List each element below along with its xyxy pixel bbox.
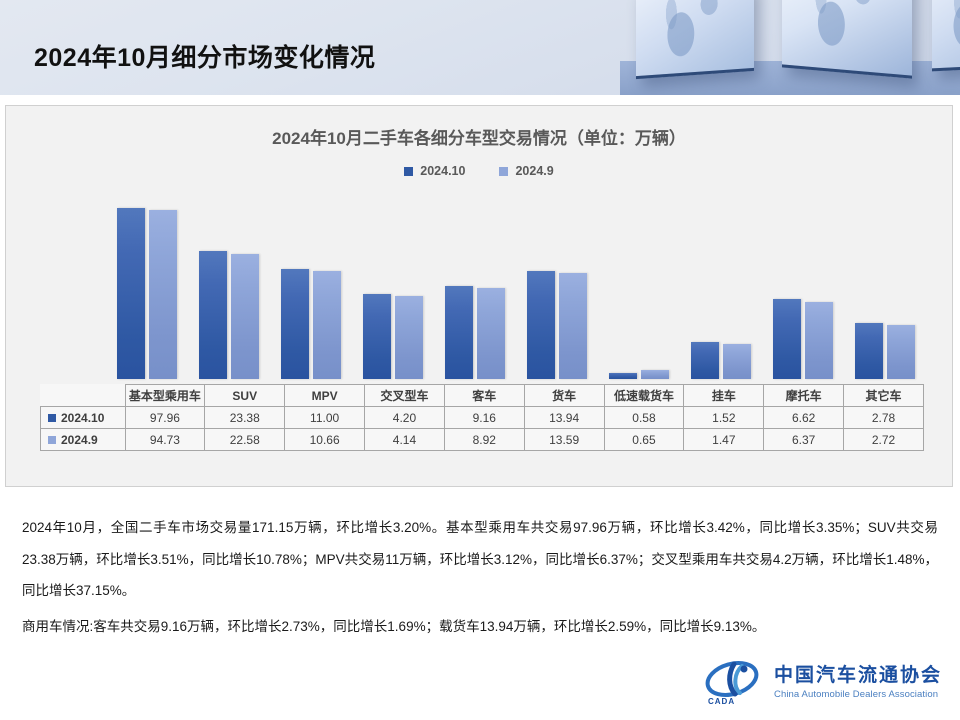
table-cell-value: 2.78 [844, 407, 924, 429]
body-text: 2024年10月，全国二手车市场交易量171.15万辆，环比增长3.20%。基本… [22, 512, 938, 647]
bar-2024-9 [313, 271, 341, 379]
decorative-cube-1 [636, 0, 754, 79]
table-cell-value: 0.65 [604, 429, 684, 451]
table-column-header: 基本型乘用车 [125, 385, 205, 407]
table-cell-value: 1.52 [684, 407, 764, 429]
bar-2024-10 [281, 269, 309, 379]
table-column-header: 其它车 [844, 385, 924, 407]
table-column-header: 客车 [444, 385, 524, 407]
table-cell-value: 23.38 [205, 407, 285, 429]
cada-abbreviation: CADA [708, 697, 735, 706]
cada-logo-mark-icon: CADA [704, 660, 766, 706]
cada-name-en: China Automobile Dealers Association [774, 690, 942, 700]
table-cell-value: 97.96 [125, 407, 205, 429]
table-cell-value: 11.00 [285, 407, 365, 429]
table-header-row: 基本型乘用车SUVMPV交叉型车客车货车低速载货车挂车摩托车其它车 [41, 385, 924, 407]
table-column-header: SUV [205, 385, 285, 407]
bar-group [352, 201, 434, 379]
page-title: 2024年10月细分市场变化情况 [34, 38, 375, 74]
bar-group [434, 201, 516, 379]
table-cell-value: 6.62 [764, 407, 844, 429]
bar-2024-9 [887, 325, 915, 379]
table-cell-value: 13.59 [524, 429, 604, 451]
bar-group [188, 201, 270, 379]
table-corner-cell [41, 385, 126, 407]
table-cell-value: 0.58 [604, 407, 684, 429]
table-cell-value: 4.20 [365, 407, 445, 429]
bar-group [516, 201, 598, 379]
table-column-header: 低速载货车 [604, 385, 684, 407]
bar-2024-10 [199, 251, 227, 379]
cada-name-cn: 中国汽车流通协会 [774, 666, 942, 687]
paragraph-commercial-vehicles: 商用车情况:客车共交易9.16万辆，环比增长2.73%，同比增长1.69%；载货… [22, 611, 938, 643]
series-swatch-icon [48, 414, 56, 422]
table-cell-value: 4.14 [365, 429, 445, 451]
bar-2024-9 [641, 370, 669, 379]
legend-item-2024-9: 2024.9 [499, 164, 553, 178]
series-name: 2024.9 [61, 433, 98, 447]
bar-group [106, 201, 188, 379]
bar-2024-9 [723, 344, 751, 379]
bar-2024-10 [609, 373, 637, 379]
header-banner: 2024年10月细分市场变化情况 [0, 0, 960, 95]
decorative-cube-2 [782, 0, 912, 79]
table-cell-value: 1.47 [684, 429, 764, 451]
table-body: 2024.1097.9623.3811.004.209.1613.940.581… [41, 407, 924, 451]
table-row-label: 2024.9 [41, 429, 126, 451]
table-cell-value: 94.73 [125, 429, 205, 451]
legend-item-2024-10: 2024.10 [404, 164, 465, 178]
bar-2024-10 [691, 342, 719, 379]
bar-2024-9 [395, 296, 423, 379]
cada-logo-text: 中国汽车流通协会 China Automobile Dealers Associ… [774, 666, 942, 700]
bar-2024-9 [477, 288, 505, 379]
table-column-header: 货车 [524, 385, 604, 407]
table-column-header: 交叉型车 [365, 385, 445, 407]
bar-2024-9 [559, 273, 587, 379]
bar-2024-10 [527, 271, 555, 379]
table-column-header: 挂车 [684, 385, 764, 407]
bar-2024-10 [445, 286, 473, 379]
world-map-texture [932, 0, 960, 68]
legend-swatch-icon [404, 167, 413, 176]
table-cell-value: 10.66 [285, 429, 365, 451]
bar-2024-10 [773, 299, 801, 379]
bar-group [680, 201, 762, 379]
world-map-texture [636, 0, 754, 76]
bar-group [844, 201, 926, 379]
table-row: 2024.1097.9623.3811.004.209.1613.940.581… [41, 407, 924, 429]
table-row-label: 2024.10 [41, 407, 126, 429]
bar-2024-10 [855, 323, 883, 379]
chart-plot-area [106, 201, 926, 379]
legend-label: 2024.10 [420, 164, 465, 178]
table-cell-value: 6.37 [764, 429, 844, 451]
bar-2024-10 [363, 294, 391, 379]
chart-data-table: 基本型乘用车SUVMPV交叉型车客车货车低速载货车挂车摩托车其它车 2024.1… [40, 384, 924, 451]
table-cell-value: 8.92 [444, 429, 524, 451]
header-decoration-cubes [620, 0, 960, 95]
cada-logo: CADA 中国汽车流通协会 China Automobile Dealers A… [704, 660, 942, 706]
world-map-texture [782, 0, 912, 76]
chart-legend: 2024.10 2024.9 [6, 164, 952, 178]
bar-group [762, 201, 844, 379]
table-cell-value: 2.72 [844, 429, 924, 451]
legend-label: 2024.9 [515, 164, 553, 178]
bar-2024-9 [149, 210, 177, 379]
chart-title: 2024年10月二手车各细分车型交易情况（单位：万辆） [6, 124, 952, 149]
table-cell-value: 22.58 [205, 429, 285, 451]
chart-panel: 2024年10月二手车各细分车型交易情况（单位：万辆） 2024.10 2024… [5, 105, 953, 487]
bar-group [270, 201, 352, 379]
table-column-header: 摩托车 [764, 385, 844, 407]
legend-swatch-icon [499, 167, 508, 176]
bar-2024-9 [805, 302, 833, 379]
bar-group [598, 201, 680, 379]
paragraph-passenger-vehicles: 2024年10月，全国二手车市场交易量171.15万辆，环比增长3.20%。基本… [22, 512, 938, 607]
table-row: 2024.994.7322.5810.664.148.9213.590.651.… [41, 429, 924, 451]
table-cell-value: 9.16 [444, 407, 524, 429]
table-column-header: MPV [285, 385, 365, 407]
bar-2024-10 [117, 208, 145, 379]
table-cell-value: 13.94 [524, 407, 604, 429]
series-swatch-icon [48, 436, 56, 444]
bar-2024-9 [231, 254, 259, 379]
series-name: 2024.10 [61, 411, 104, 425]
decorative-cube-3 [932, 0, 960, 71]
